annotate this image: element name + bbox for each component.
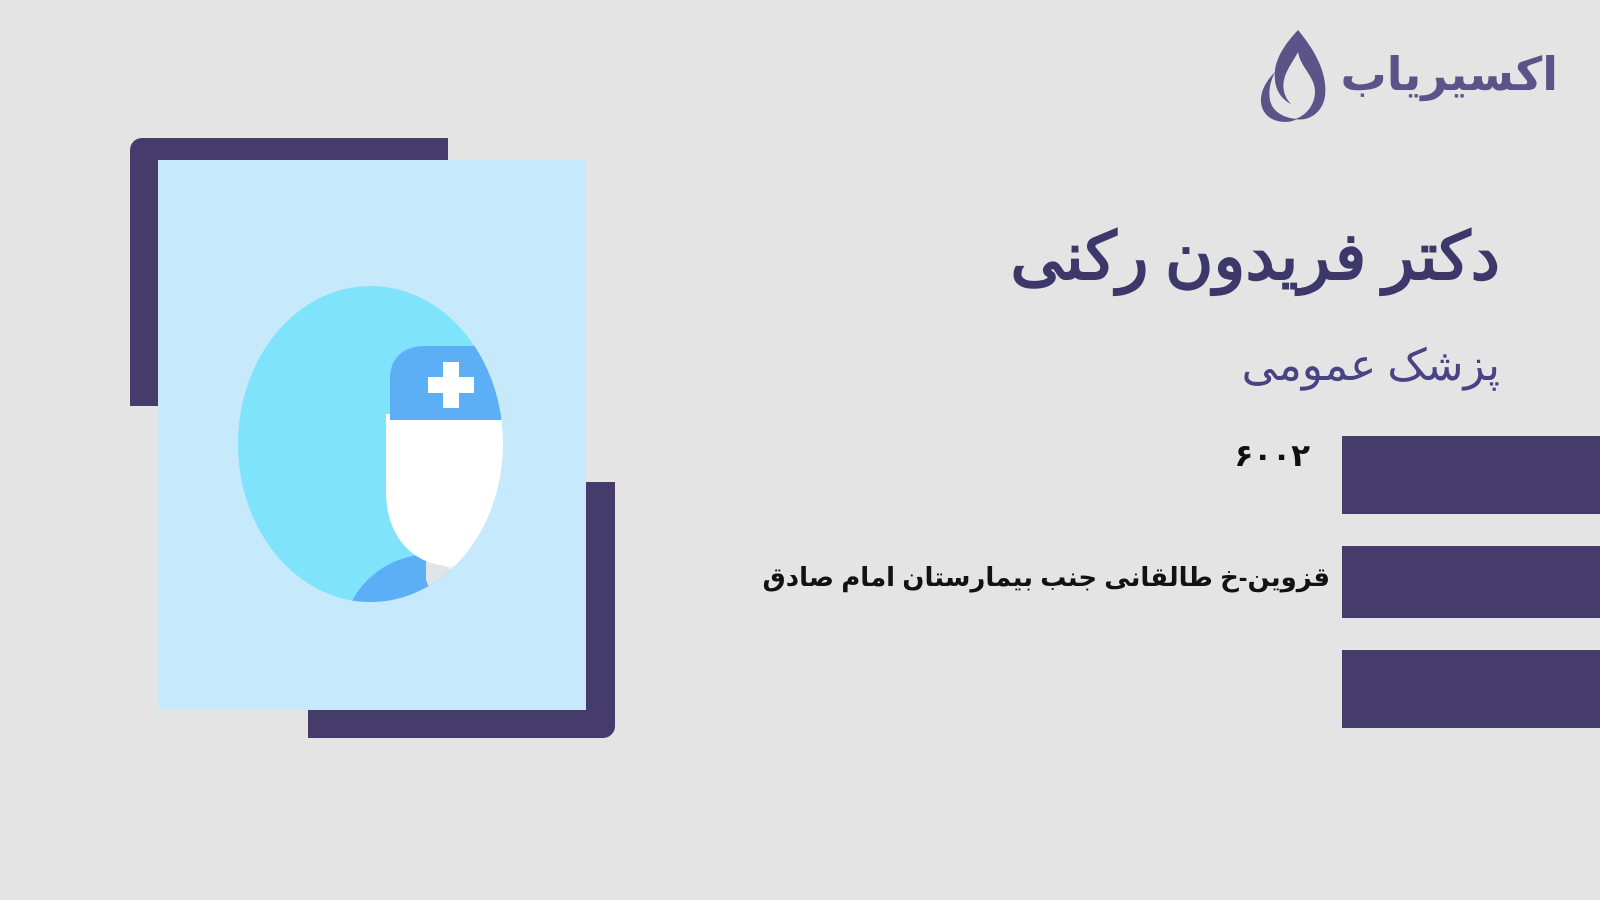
avatar-wrapper — [158, 160, 586, 710]
doctor-address: قزوین-خ طالقانی جنب بیمارستان امام صادق — [763, 562, 1330, 593]
doctor-specialty: پزشک عمومی — [1242, 340, 1500, 393]
doctor-profile-banner: اکسیریاب — [0, 0, 1600, 900]
doctor-illustration — [0, 0, 700, 900]
avatar-circle — [238, 286, 503, 602]
decor-bar-2 — [1342, 546, 1600, 618]
decor-bar-3 — [1342, 650, 1600, 728]
doctor-avatar-icon — [316, 342, 503, 602]
doctor-code: ۶۰۰۲ — [1234, 440, 1310, 471]
doctor-name: دکتر فریدون رکنی — [1010, 222, 1500, 295]
decor-bar-1 — [1342, 436, 1600, 514]
